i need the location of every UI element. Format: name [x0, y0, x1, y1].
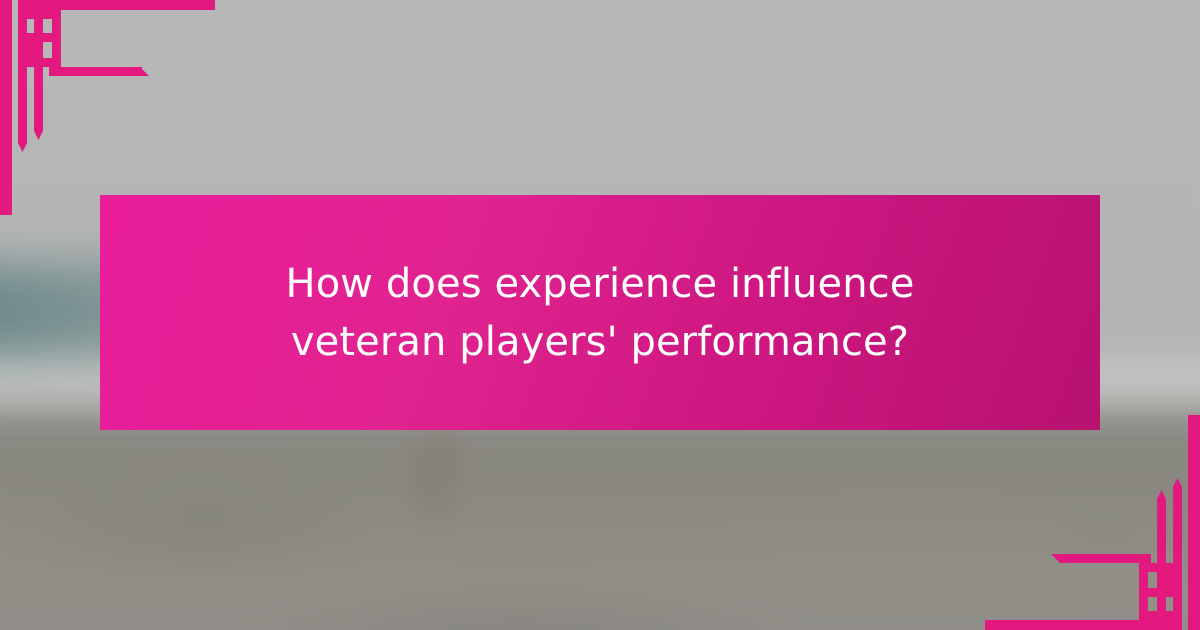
headline-banner: How does experience influence veteran pl…	[100, 195, 1100, 430]
photo-person-head	[434, 432, 450, 450]
page-title: How does experience influence veteran pl…	[250, 255, 950, 371]
social-card-canvas: How does experience influence veteran pl…	[0, 0, 1200, 630]
photo-sand-texture-left	[11, 471, 395, 585]
photo-person-body	[421, 450, 447, 512]
photo-distant-shape-right	[1074, 521, 1134, 561]
photo-sand-texture-center	[242, 585, 805, 630]
